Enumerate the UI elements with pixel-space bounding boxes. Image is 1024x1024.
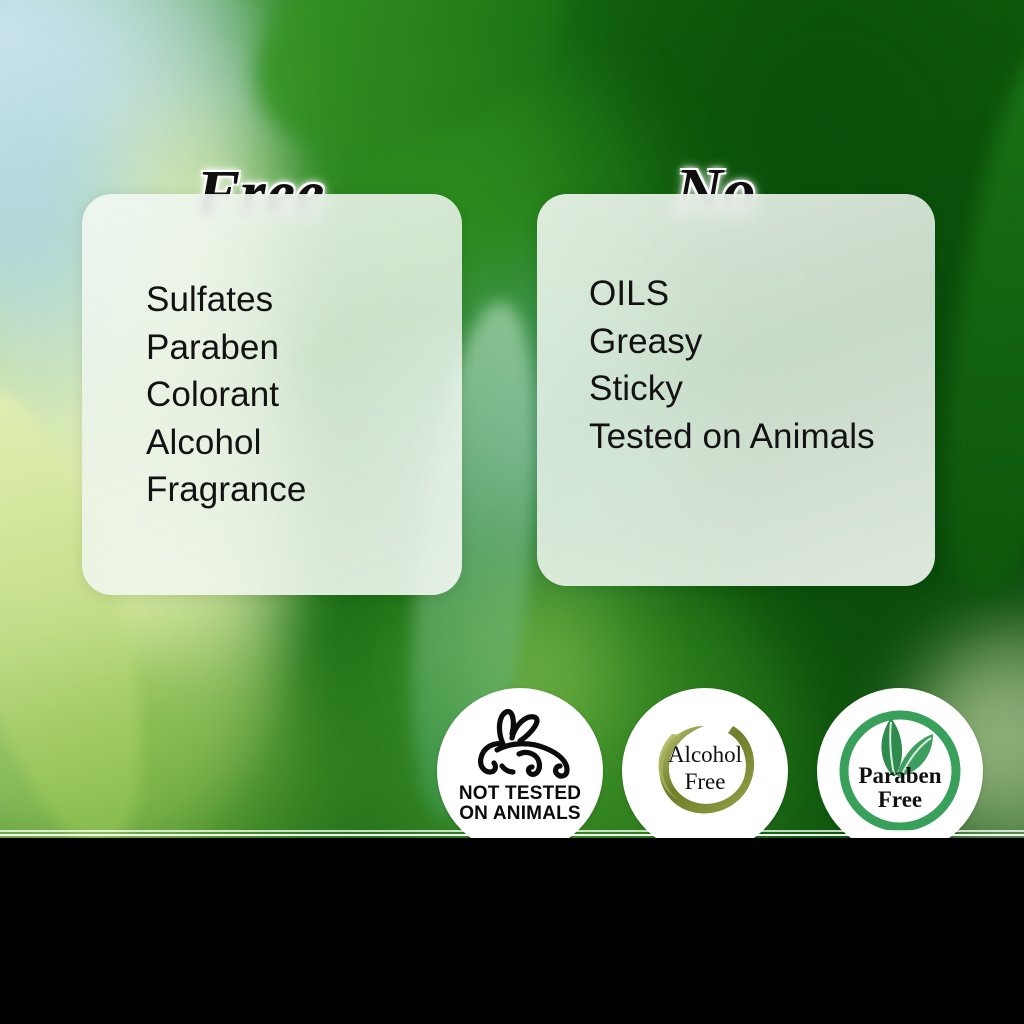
card-no: OILS Greasy Sticky Tested on Animals [537,194,935,586]
badge-cruelty-free-inner: NOT TESTED ON ANIMALS [451,702,589,840]
badge-paraben-free-label: Paraben Free [831,764,969,812]
divider-line-top [0,830,1024,832]
badge-cruelty-free-label: NOT TESTED ON ANIMALS [451,784,589,824]
card-no-list: OILS Greasy Sticky Tested on Animals [589,270,925,460]
poster-root: Free No Sulfates Paraben Colorant Alcoho… [0,0,1024,1024]
list-item: Sulfates [146,276,452,324]
list-item: Tested on Animals [589,413,925,461]
card-free: Sulfates Paraben Colorant Alcohol Fragra… [82,194,462,595]
list-item: Sticky [589,365,925,413]
list-item: Colorant [146,371,452,419]
badge-alcohol-free-line2: Free [636,769,774,796]
list-item: Alcohol [146,419,452,467]
card-free-list: Sulfates Paraben Colorant Alcohol Fragra… [146,276,452,514]
list-item: Greasy [589,318,925,366]
badge-paraben-free-inner: Paraben Free [831,702,969,840]
divider-line-bottom [0,834,1024,836]
rabbit-icon [457,704,595,794]
badge-paraben-free-line1: Paraben [831,764,969,788]
badge-cruelty-free-line2: ON ANIMALS [451,804,589,824]
list-item: Fragrance [146,466,452,514]
badge-cruelty-free-line1: NOT TESTED [451,784,589,804]
photo-divider [0,830,1024,838]
badge-paraben-free-line2: Free [831,788,969,812]
list-item: OILS [589,270,925,318]
badge-alcohol-free-label: Alcohol Free [636,742,774,795]
badge-alcohol-free-inner: Alcohol Free [636,702,774,840]
list-item: Paraben [146,324,452,372]
badge-alcohol-free-line1: Alcohol [636,742,774,769]
footer-bar: 92.5 We will always try to make products… [0,838,1024,1024]
